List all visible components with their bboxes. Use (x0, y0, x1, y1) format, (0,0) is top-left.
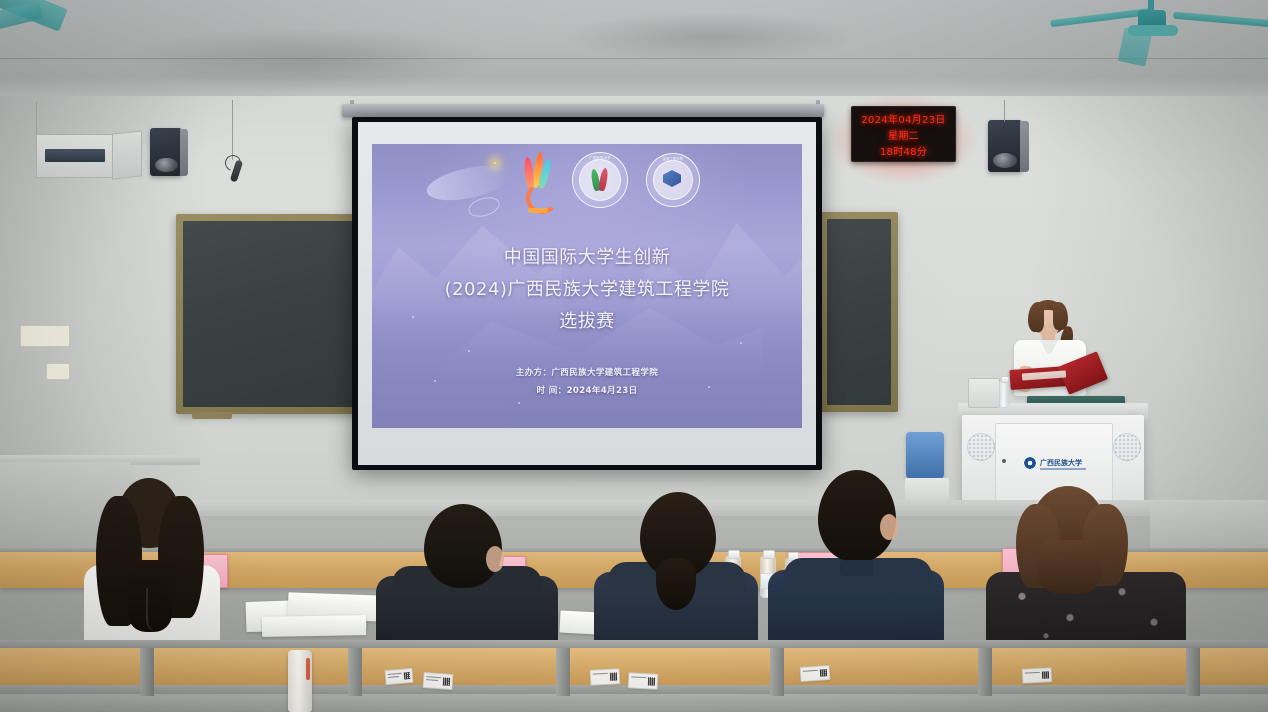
ac-louver (45, 149, 105, 162)
slide-title-line-1: 中国国际大学生创新 (372, 246, 802, 269)
slide-sparkle (740, 342, 742, 344)
attendee-2-ear (486, 546, 504, 572)
podium-side-box (968, 378, 1000, 408)
slide-orbit-ring (466, 194, 502, 220)
slide-subtitle-date: 时 间：2024年4月23日 (372, 384, 802, 396)
bottle-cap (1001, 376, 1009, 383)
ceiling-stain (120, 28, 500, 92)
qr-code (1042, 671, 1049, 678)
clock-weekday: 星期二 (888, 127, 919, 142)
seal-top-text: 广西民族大学 (573, 155, 627, 160)
seat-qr-label (628, 672, 659, 690)
floor-front-strip (0, 694, 1268, 712)
seal-top-text: 建筑工程学院 (647, 156, 699, 161)
college-seal-blue-icon: 建筑工程学院 (646, 153, 700, 207)
ceiling-stain (560, 12, 860, 62)
clock-date: 2024年04月23日 (861, 111, 945, 126)
qr-text-line (593, 673, 608, 675)
blue-bag (906, 432, 944, 480)
podium-speaker-grille-right (1113, 433, 1141, 461)
seat-divider (1186, 648, 1200, 696)
university-logo-mark-icon (1023, 456, 1037, 470)
classroom-photo-scene: 广西民族大学 建筑工程学院 中国国际大学生创新 (2024)广西民族大学建筑工程… (0, 0, 1268, 712)
seat-qr-label (384, 668, 413, 685)
seat-qr-label (800, 665, 831, 682)
qr-text-line (803, 670, 818, 672)
podium-logo-underline (1040, 468, 1086, 470)
flame-emblem-icon (520, 152, 556, 218)
qr-text-line (426, 676, 441, 678)
ceiling-fan-right (1055, 0, 1268, 60)
slide-subtitle-organizer: 主办方：广西民族大学建筑工程学院 (372, 366, 802, 378)
qr-code (820, 669, 827, 676)
qr-code (443, 677, 451, 685)
speaker-cable (1004, 100, 1005, 122)
bottle-cap (763, 550, 775, 559)
seat-divider (556, 648, 570, 696)
attendee-4-collar (840, 560, 874, 576)
slide-title-line-3: 选拔赛 (372, 310, 802, 333)
chalk-tray (192, 412, 232, 419)
ac-deflector (112, 130, 142, 179)
wall-outlet-panel[interactable] (20, 325, 70, 347)
attendee-2-head (424, 504, 502, 588)
attendee-5-hair-back (1038, 540, 1102, 594)
seat-divider (140, 648, 154, 696)
fan-light-ring (1128, 25, 1178, 36)
wall-speaker-right-side (1020, 121, 1029, 172)
blackboard-right (820, 212, 898, 412)
qr-text-line (388, 676, 399, 678)
seat-qr-label (1022, 667, 1053, 684)
qr-code (610, 672, 617, 680)
wall-speaker-left-side (180, 129, 188, 176)
qr-code (404, 672, 411, 679)
led-clock-display: 2024年04月23日 星期二 18时48分 (851, 106, 956, 162)
seat-divider (978, 648, 992, 696)
air-conditioner-vent (36, 134, 113, 178)
slide-sparkle (434, 380, 436, 382)
seat-qr-label (590, 668, 621, 686)
clock-time: 18时48分 (880, 143, 927, 158)
qr-code (648, 677, 655, 685)
podium-indicator-led (1002, 459, 1006, 463)
speaker-woofer (155, 158, 178, 172)
wall-switch[interactable] (46, 363, 70, 380)
flame-base (528, 208, 548, 213)
slide-title-line-2: (2024)广西民族大学建筑工程学院 (372, 278, 802, 301)
microphone-wire (232, 100, 233, 160)
qr-text-line (1025, 672, 1040, 674)
paper-stack-3 (262, 615, 366, 637)
slide-sparkle (518, 402, 520, 404)
projected-slide: 广西民族大学 建筑工程学院 中国国际大学生创新 (2024)广西民族大学建筑工程… (372, 144, 802, 428)
slide-sparkle (468, 350, 470, 352)
qr-text-line (631, 676, 646, 678)
qr-text-line (388, 673, 402, 675)
projection-screen: 广西民族大学 建筑工程学院 中国国际大学生创新 (2024)广西民族大学建筑工程… (352, 117, 822, 470)
slide-sun-dot (494, 162, 496, 164)
university-seal-green-icon: 广西民族大学 (572, 152, 628, 208)
bottle-cap (728, 550, 740, 559)
ceiling-fan-left (0, 0, 100, 38)
qr-text-line (426, 679, 438, 681)
thermos-accent (306, 658, 310, 680)
slide-comet-streak (424, 159, 514, 206)
podium-logo-text: 广西民族大学 (1040, 458, 1082, 468)
seat-qr-label (422, 672, 453, 690)
seat-divider (770, 648, 784, 696)
attendee-1-lanyard (146, 588, 168, 632)
attendee-4-ear (880, 514, 898, 540)
blackboard-surface (827, 219, 891, 405)
podium-water-bottle[interactable] (999, 380, 1009, 408)
projector-screen-housing (342, 104, 824, 117)
seat-divider (348, 648, 362, 696)
fan-blade (1173, 12, 1268, 28)
host-hair-side (1028, 302, 1044, 332)
speaker-woofer (993, 153, 1017, 168)
podium-speaker-grille-left (967, 433, 995, 461)
